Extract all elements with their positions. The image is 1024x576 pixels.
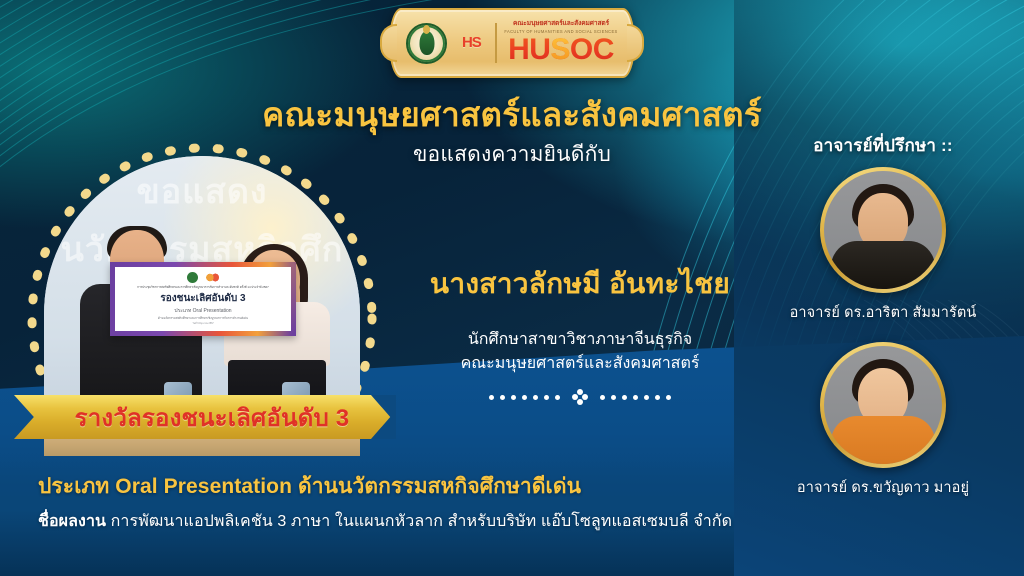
- student-name: นางสาวลักษมี อันทะไชย: [400, 262, 760, 306]
- advisor-card-2: อาจารย์ ดร.ขวัญดาว มาอยู่: [756, 342, 1010, 499]
- certificate-category: ประเภท Oral Presentation: [174, 307, 231, 315]
- logo-faculty-thai: คณะมนุษยศาสตร์และสังคมศาสตร์: [513, 21, 609, 28]
- logo-text-block: คณะมนุษยศาสตร์และสังคมศาสตร์ FACULTY OF …: [504, 21, 617, 64]
- advisor-name-2: อาจารย์ ดร.ขวัญดาว มาอยู่: [756, 476, 1010, 499]
- logo-acronym-s: S: [550, 33, 570, 66]
- certificate-logo-icon: [206, 272, 219, 283]
- advisor-photo-frame-2: [820, 342, 946, 468]
- university-seal-icon: [406, 23, 447, 64]
- logo-divider: [495, 23, 497, 63]
- student-details: นักศึกษาสาขาวิชาภาษาจีนธุรกิจ คณะมนุษยศา…: [400, 328, 760, 376]
- award-photo: ขอแสดง นวัตกรรมสหกิจศึก: [22, 138, 382, 438]
- advisor-name-1: อาจารย์ ดร.อาริตา สัมมารัตน์: [756, 301, 1010, 324]
- advisor-portrait-1: [824, 171, 942, 289]
- certificate-detail: ด้านนวัตกรรมสหกิจศึกษาและการศึกษาเชิงบูร…: [158, 316, 248, 321]
- student-info-block: นางสาวลักษมี อันทะไชย นักศึกษาสาขาวิชาภา…: [400, 262, 760, 404]
- student-program: นักศึกษาสาขาวิชาภาษาจีนธุรกิจ: [400, 328, 760, 352]
- award-type-line: ประเภท Oral Presentation ด้านนวัตกรรมสหก…: [38, 470, 581, 503]
- advisors-section: อาจารย์ที่ปรึกษา :: อาจารย์ ดร.อาริตา สั…: [756, 132, 1010, 499]
- logo-acronym-oc: OC: [570, 33, 614, 66]
- divider-flower-icon: [572, 389, 588, 405]
- photo-backdrop-text-1: ขอแสดง: [44, 164, 360, 218]
- award-ribbon: รางวัลรองชนะเลิศอันดับ 3: [14, 395, 396, 439]
- advisor-portrait-2: [824, 346, 942, 464]
- certificate-award: รองชนะเลิศอันดับ 3: [160, 291, 245, 306]
- student-faculty: คณะมนุษยศาสตร์และสังคมศาสตร์: [400, 352, 760, 376]
- logo-acronym-hu: HU: [508, 33, 550, 66]
- advisors-title: อาจารย์ที่ปรึกษา ::: [756, 132, 1010, 159]
- certificate-seals: [187, 272, 219, 283]
- work-title-text: การพัฒนาแอปพลิเคชัน 3 ภาษา ในแผนกหัวลาก …: [111, 513, 732, 530]
- certificate-footer: วันที่ 6 มิถุนายน 2567: [192, 322, 213, 326]
- certificate-header: การประชุมวิชาการสหกิจศึกษาและการศึกษาเชิ…: [137, 285, 268, 290]
- certificate-seal-icon: [187, 272, 198, 283]
- advisor-photo-frame-1: [820, 167, 946, 293]
- certificate-board: การประชุมวิชาการสหกิจศึกษาและการศึกษาเชิ…: [110, 262, 296, 336]
- logo-acronym: HUSOC: [508, 35, 614, 65]
- decorative-divider: [400, 390, 760, 404]
- award-ribbon-label: รางวัลรองชนะเลิศอันดับ 3: [61, 398, 350, 437]
- work-title-line: ชื่อผลงาน การพัฒนาแอปพลิเคชัน 3 ภาษา ในแ…: [38, 509, 732, 534]
- congratulation-banner: HS คณะมนุษยศาสตร์และสังคมศาสตร์ FACULTY …: [0, 0, 1024, 576]
- advisor-card-1: อาจารย์ ดร.อาริตา สัมมารัตน์: [756, 167, 1010, 324]
- husoc-logo-plaque: HS คณะมนุษยศาสตร์และสังคมศาสตร์ FACULTY …: [389, 8, 635, 78]
- work-title-label: ชื่อผลงาน: [38, 513, 106, 530]
- hs-monogram-icon: HS: [454, 22, 488, 64]
